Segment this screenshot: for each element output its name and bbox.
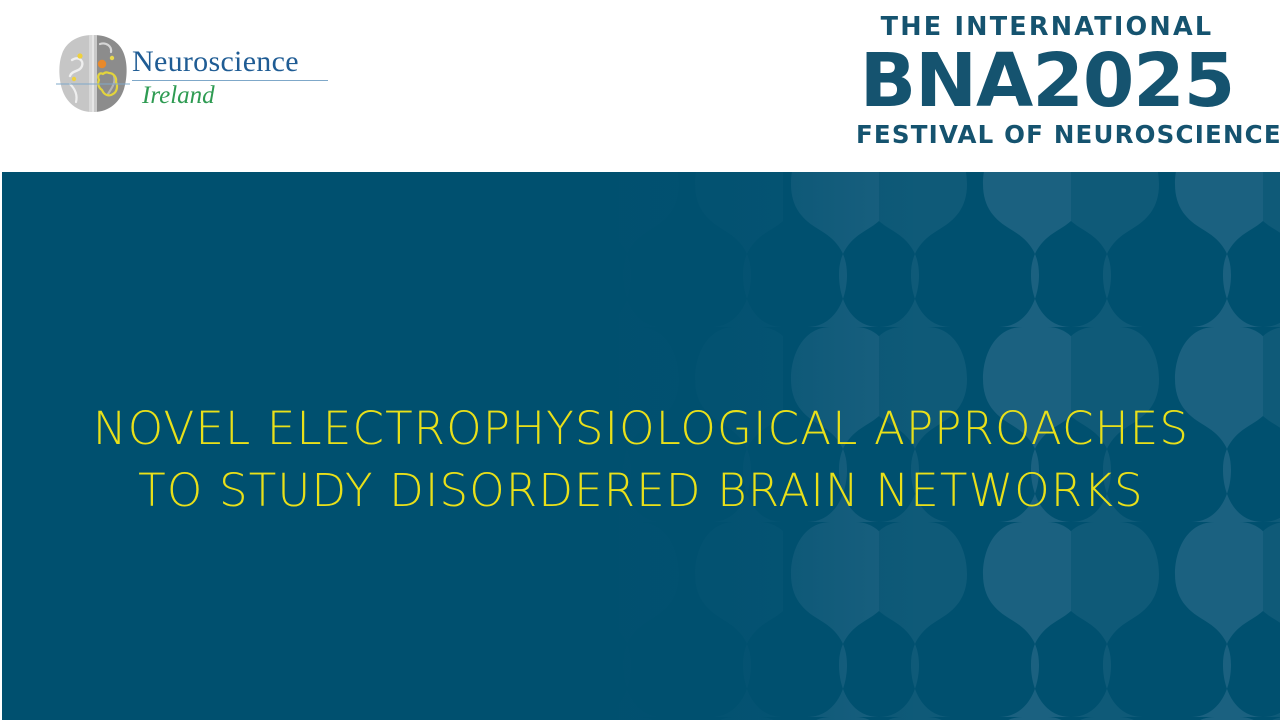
slide-title: NOVEL ELECTROPHYSIOLOGICAL APPROACHES TO… — [2, 398, 1280, 522]
brain-ireland-icon — [56, 32, 130, 116]
header-band: Neuroscience Ireland THE INTERNATIONAL B… — [0, 0, 1280, 172]
title-slide: NOVEL ELECTROPHYSIOLOGICAL APPROACHES TO… — [0, 0, 1280, 720]
ni-divider-rule — [132, 80, 328, 81]
title-line-2: TO STUDY DISORDERED BRAIN NETWORKS — [42, 460, 1240, 522]
title-line-1: NOVEL ELECTROPHYSIOLOGICAL APPROACHES — [42, 398, 1240, 460]
bna-line-festival-of-neuroscience: FESTIVAL OF NEUROSCIENCE — [856, 120, 1238, 150]
bna-2025-logo: THE INTERNATIONAL BNA2025 FESTIVAL OF NE… — [856, 12, 1238, 150]
neuroscience-ireland-logo: Neuroscience Ireland — [56, 30, 326, 122]
neuroscience-ireland-wordmark: Neuroscience Ireland — [132, 46, 328, 110]
slide-body-panel: NOVEL ELECTROPHYSIOLOGICAL APPROACHES TO… — [2, 172, 1280, 720]
ni-word-neuroscience: Neuroscience — [132, 46, 328, 78]
bna-line-bna2025: BNA2025 — [856, 42, 1238, 120]
ni-word-ireland: Ireland — [132, 82, 328, 110]
